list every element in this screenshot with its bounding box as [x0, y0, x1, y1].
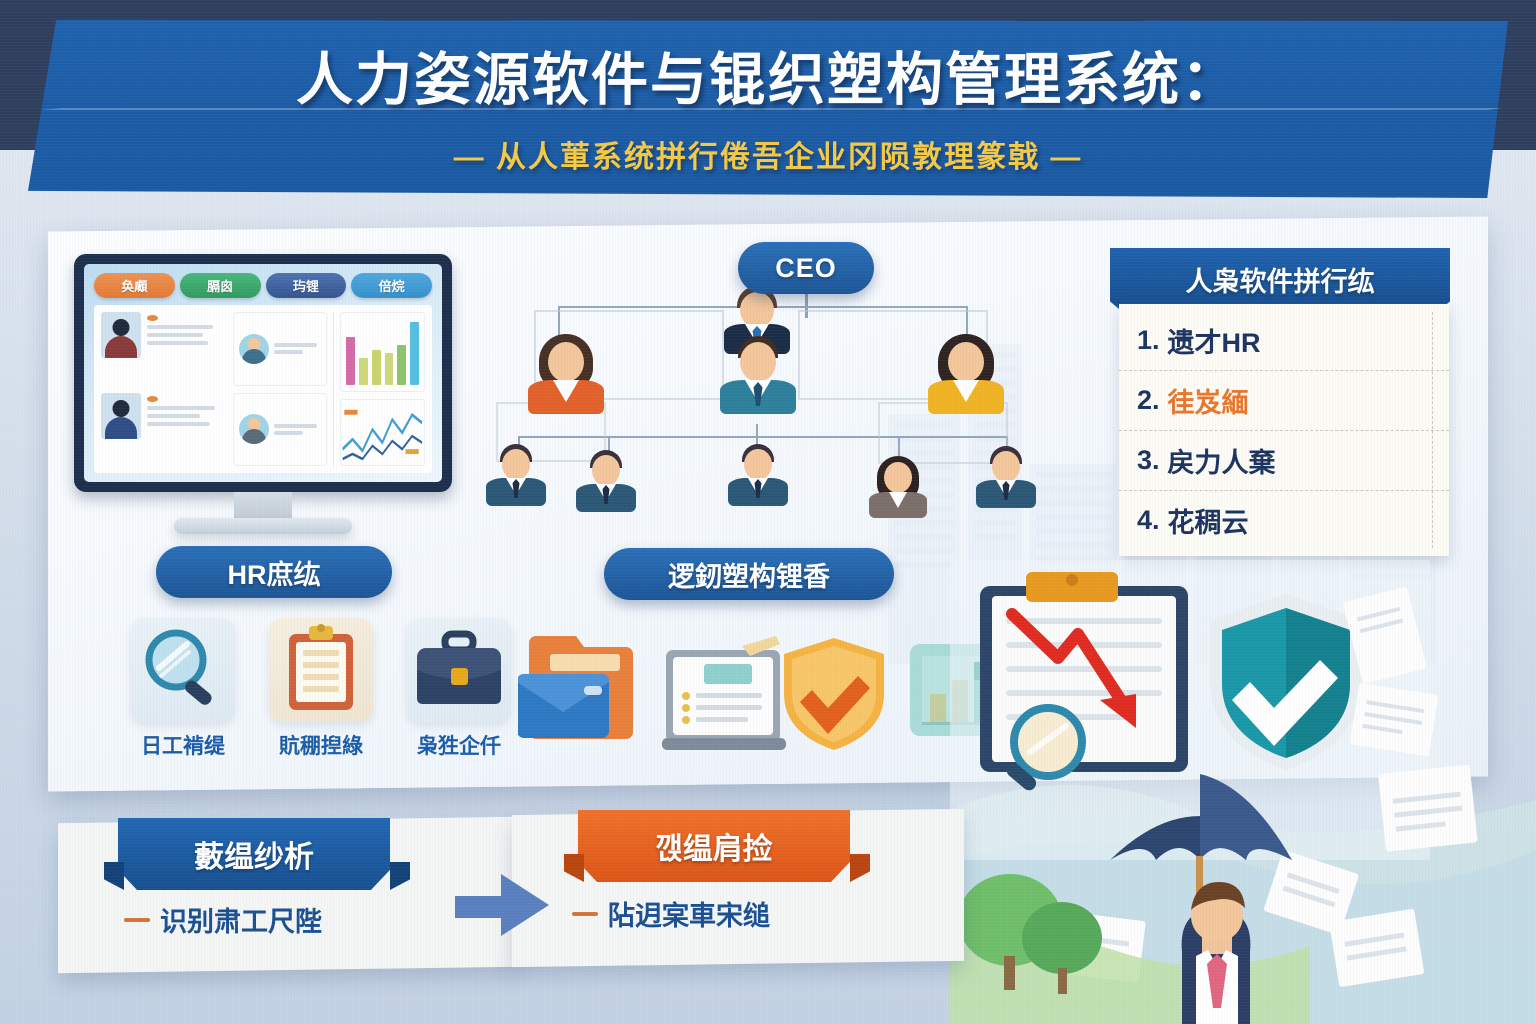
- subtitle-text: 从人莗系统拼行倦吾企业冈陨敦理篆戟: [496, 141, 1040, 174]
- subtitle-dash-right: —: [1050, 141, 1082, 174]
- monitor-screen: 奂顑 膈囪 玙锂 倍烷: [74, 254, 452, 492]
- hr-feature-1-label: 日工褃缇: [128, 730, 238, 760]
- hr-feature-2-label: 貥稝揑綠: [266, 730, 376, 760]
- org-node-staff[interactable]: [866, 456, 930, 518]
- page-subtitle: — 从人莗系统拼行倦吾企业冈陨敦理篆戟 —: [0, 132, 1536, 176]
- hr-feature-2[interactable]: 貥稝揑綠: [266, 618, 376, 760]
- badge-ceo: CEO: [738, 242, 874, 294]
- ranking-item-number: 4.: [1137, 505, 1160, 536]
- org-node-manager[interactable]: [926, 334, 1006, 412]
- employee-list-column: [101, 312, 227, 466]
- ranking-item-label: 戻力人棄: [1168, 441, 1276, 480]
- dashboard-tab-4[interactable]: 倍烷: [351, 273, 432, 298]
- ranking-item-number: 1.: [1137, 325, 1160, 356]
- clipboard-icon: [269, 618, 373, 722]
- hr-dashboard-monitor: 奂顑 膈囪 玙锂 倍烷: [74, 254, 452, 544]
- ranking-item[interactable]: 4. 花稠云: [1119, 490, 1449, 550]
- employee-row[interactable]: [101, 312, 227, 386]
- ranking-item-number: 3.: [1137, 445, 1160, 476]
- ranking-item[interactable]: 3. 戻力人棄: [1119, 430, 1449, 490]
- employee-row[interactable]: [101, 393, 227, 467]
- avatar: [239, 414, 269, 444]
- folder-icon: [518, 636, 633, 739]
- ribbon-control: 깭缊肩捡: [578, 810, 850, 882]
- dashboard-body: [94, 305, 432, 473]
- infographic-canvas: 人力姿源软件与锟织塑构管理系统： — 从人莗系统拼行倦吾企业冈陨敦理篆戟 — 奂…: [0, 0, 1536, 1024]
- briefcase-icon: [407, 618, 511, 722]
- ranking-card: 人枭软件拼行纮 1. 遗才HR 2. 徍岌緬 3. 戻力人棄 4. 花稠云: [1110, 248, 1462, 568]
- hr-feature-3-label: 枭狌企仟: [404, 730, 514, 760]
- document-icon-cluster: [518, 602, 1018, 782]
- ranking-item[interactable]: 1. 遗才HR: [1119, 310, 1449, 370]
- org-node-staff[interactable]: [974, 446, 1038, 508]
- magnifier-icon: [131, 618, 235, 722]
- org-node-staff[interactable]: [484, 444, 548, 506]
- hr-feature-3[interactable]: 枭狌企仟: [404, 618, 514, 760]
- risk-illustration: [950, 560, 1536, 1024]
- org-node-manager[interactable]: [718, 334, 798, 412]
- monitor-stand-base: [174, 518, 352, 534]
- orange-shield-check-icon: [784, 638, 884, 750]
- bullet-dash-left: [124, 918, 150, 922]
- list-item[interactable]: [233, 312, 327, 386]
- ranking-item-label: 花稠云: [1168, 501, 1249, 540]
- document-laptop-icon: [662, 636, 786, 750]
- ranking-item-label: 遗才HR: [1168, 321, 1261, 360]
- ribbon-analysis: 藪缊纱析: [118, 818, 390, 890]
- ranking-list: 1. 遗才HR 2. 徍岌緬 3. 戻力人棄 4. 花稠云: [1119, 304, 1449, 556]
- avatar: [101, 393, 141, 439]
- org-node-staff[interactable]: [726, 444, 790, 506]
- dashboard-tab-bar[interactable]: 奂顑 膈囪 玙锂 倍烷: [94, 273, 432, 298]
- employee-card-column: [233, 312, 327, 466]
- bottom-label-analysis: 识别肃工尺陛: [160, 900, 322, 939]
- bullet-dash-right: [572, 912, 598, 916]
- list-item[interactable]: [233, 393, 327, 467]
- dashboard-tab-2[interactable]: 膈囪: [180, 273, 261, 298]
- ranking-item-label: 徍岌緬: [1168, 381, 1249, 420]
- bottom-label-control: 阽迌宲車宋缒: [608, 894, 770, 933]
- hr-feature-1[interactable]: 日工褃缇: [128, 618, 238, 760]
- org-node-manager[interactable]: [526, 334, 606, 412]
- ranking-card-header: 人枭软件拼行纮: [1110, 248, 1450, 310]
- org-chart: [468, 284, 1058, 564]
- status-dot: [147, 396, 158, 402]
- dashboard-tab-1[interactable]: 奂顑: [94, 273, 175, 298]
- ranking-item-number: 2.: [1137, 385, 1160, 416]
- org-node-staff[interactable]: [574, 450, 638, 512]
- flow-arrow-icon: [455, 874, 559, 936]
- badge-hr-system: HR庶纮: [156, 546, 392, 598]
- avatar: [239, 334, 269, 364]
- line-chart: [340, 399, 425, 467]
- page-title: 人力姿源软件与锟织塑构管理系统：: [0, 34, 1536, 116]
- subtitle-dash-left: —: [454, 141, 486, 174]
- bar-chart: [340, 312, 425, 392]
- status-dot: [147, 315, 158, 321]
- dashboard-tab-3[interactable]: 玙锂: [266, 273, 347, 298]
- badge-org-structure: 逻釰塑构锂香: [604, 548, 894, 600]
- avatar: [101, 312, 141, 358]
- analytics-column: [333, 312, 425, 466]
- ranking-item[interactable]: 2. 徍岌緬: [1119, 370, 1449, 430]
